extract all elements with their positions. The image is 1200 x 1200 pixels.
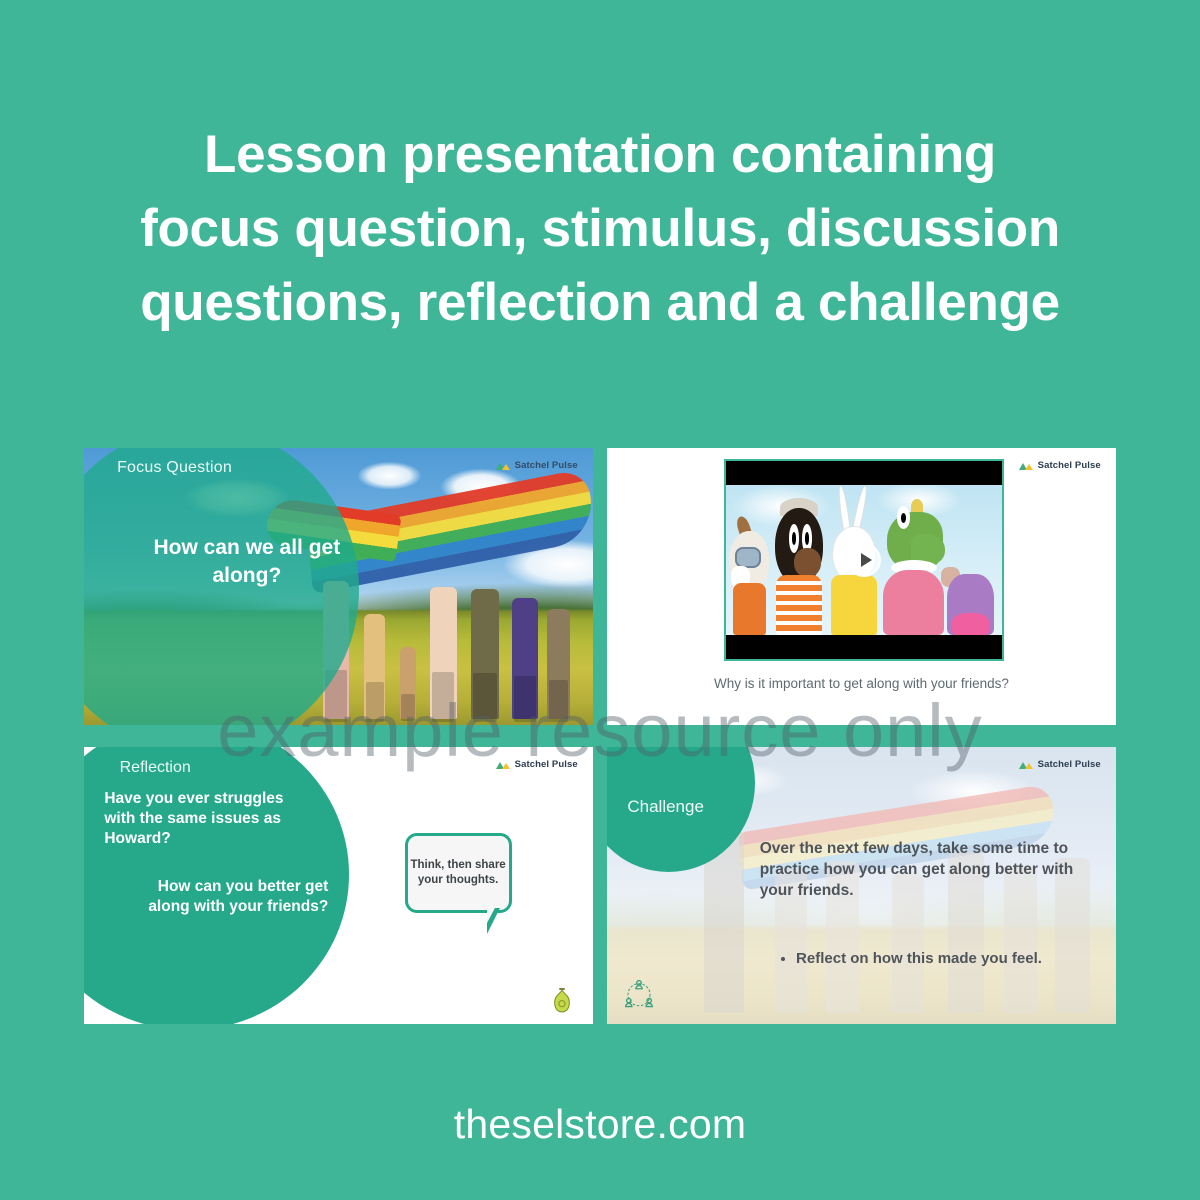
focus-question-text: How can we all get along? [120,534,375,590]
brand-name: Satchel Pulse [515,759,578,770]
character-bear [773,503,825,636]
brand-name: Satchel Pulse [515,460,578,471]
list-item: Reflect on how this made you feel. [796,949,1096,969]
mountain-logo-icon [495,759,511,770]
child-figure [430,587,456,720]
play-icon[interactable] [847,543,881,577]
video-player[interactable] [724,459,1004,661]
slide-focus-question[interactable]: Focus Question How can we all get along?… [82,446,595,727]
speech-bubble: Think, then share your thoughts. [405,833,512,913]
slide-kicker-label: Challenge [627,797,704,817]
child-figure [400,647,416,719]
headline-line-2: focus question, stimulus, discussion [90,192,1110,266]
headline-line-1: Lesson presentation containing [90,118,1110,192]
mountain-logo-icon [1018,460,1034,471]
pear-badge-icon [551,987,573,1013]
slide-thumbnail-grid: Focus Question How can we all get along?… [82,446,1118,1026]
speech-bubble-text: Think, then share your thoughts. [408,858,509,888]
satchel-pulse-logo: Satchel Pulse [1018,460,1101,471]
slide-kicker-label: Focus Question [117,459,232,477]
slide-challenge[interactable]: Challenge Over the next few days, take s… [605,745,1118,1026]
reflection-question-two: How can you better get along with your f… [115,877,329,917]
character-crocodile [883,509,944,636]
relationship-skills-icon [622,976,656,1010]
child-figure [471,589,500,719]
reflection-question-one: Have you ever struggles with the same is… [104,789,313,849]
page-title: Lesson presentation containing focus que… [0,118,1200,340]
character-fox [729,527,770,635]
character-background [947,548,994,635]
slide-kicker-label: Reflection [120,759,191,777]
headline-line-3: questions, reflection and a challenge [90,266,1110,340]
challenge-body-text: Over the next few days, take some time t… [760,838,1096,901]
child-figure [512,598,538,720]
child-figure [547,609,569,720]
slide-reflection[interactable]: Reflection Have you ever struggles with … [82,745,595,1026]
video-thumbnail [726,485,1002,636]
slide-stimulus[interactable]: Why is it important to get along with yo… [605,446,1118,727]
speech-bubble-tail [487,908,500,934]
mountain-logo-icon [495,460,511,471]
satchel-pulse-logo: Satchel Pulse [1018,759,1101,770]
brand-name: Satchel Pulse [1038,460,1101,471]
satchel-pulse-logo: Satchel Pulse [495,759,578,770]
mountain-logo-icon [1018,759,1034,770]
poster-canvas: Lesson presentation containing focus que… [0,0,1200,1200]
discussion-question-text: Why is it important to get along with yo… [673,675,1050,692]
child-figure [364,614,385,719]
brand-name: Satchel Pulse [1038,759,1101,770]
satchel-pulse-logo: Satchel Pulse [495,460,578,471]
footer-website-url: theselstore.com [0,1101,1200,1148]
challenge-bullet-list: Reflect on how this made you feel. [780,949,1096,969]
